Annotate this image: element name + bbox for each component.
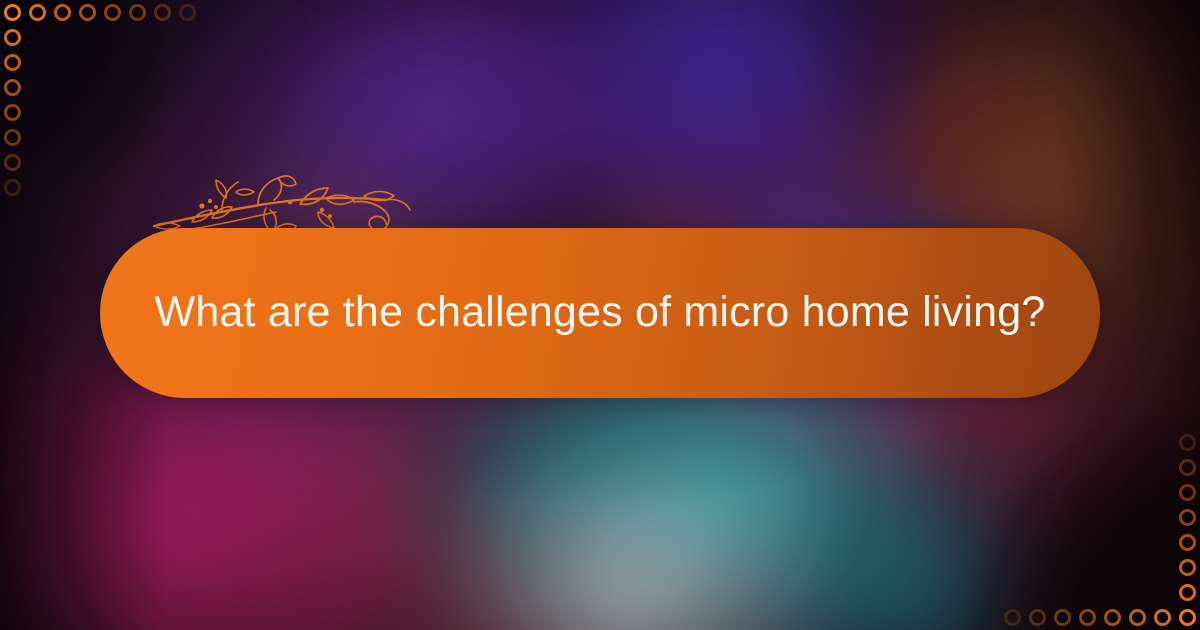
question-text: What are the challenges of micro home li… — [99, 289, 1102, 336]
question-card: What are the challenges of micro home li… — [0, 0, 1200, 630]
question-pill-button[interactable]: What are the challenges of micro home li… — [100, 228, 1100, 398]
